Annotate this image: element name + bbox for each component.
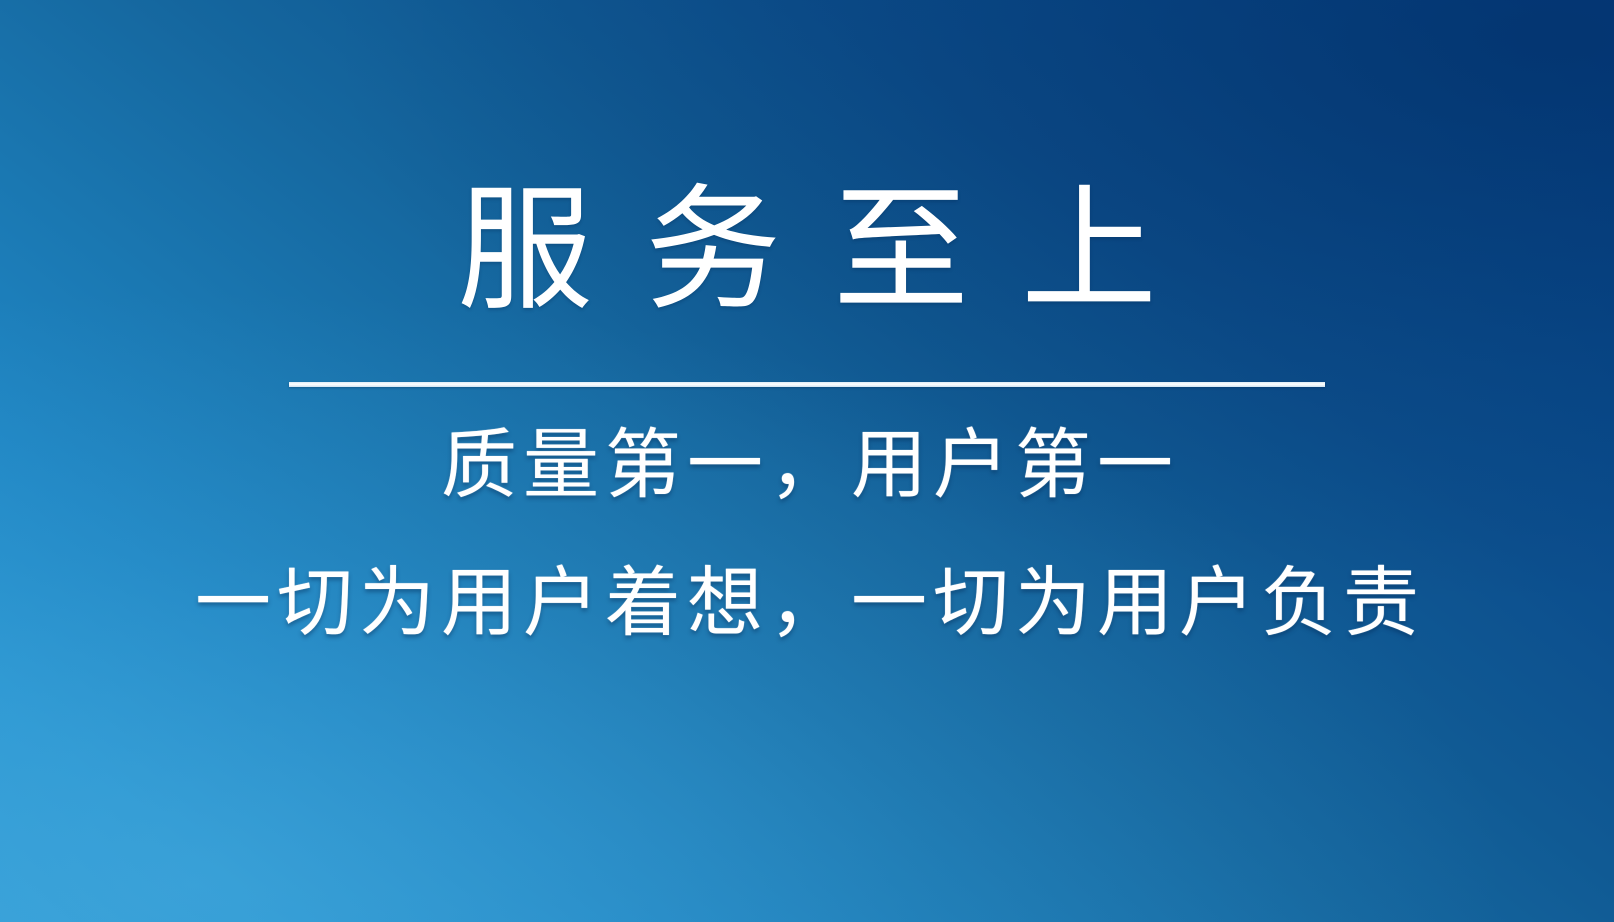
banner-content: 服务至上 质量第一，用户第一 一切为用户着想，一切为用户负责 (0, 0, 1614, 922)
title-divider-rule (289, 382, 1325, 387)
service-slogan-banner: 服务至上 质量第一，用户第一 一切为用户着想，一切为用户负责 (0, 0, 1614, 922)
banner-subtitle-line-2: 一切为用户着想，一切为用户负责 (189, 565, 1425, 641)
banner-subtitle-line-1: 质量第一，用户第一 (435, 427, 1179, 503)
banner-title: 服务至上 (405, 183, 1209, 319)
divider-container (0, 382, 1614, 387)
